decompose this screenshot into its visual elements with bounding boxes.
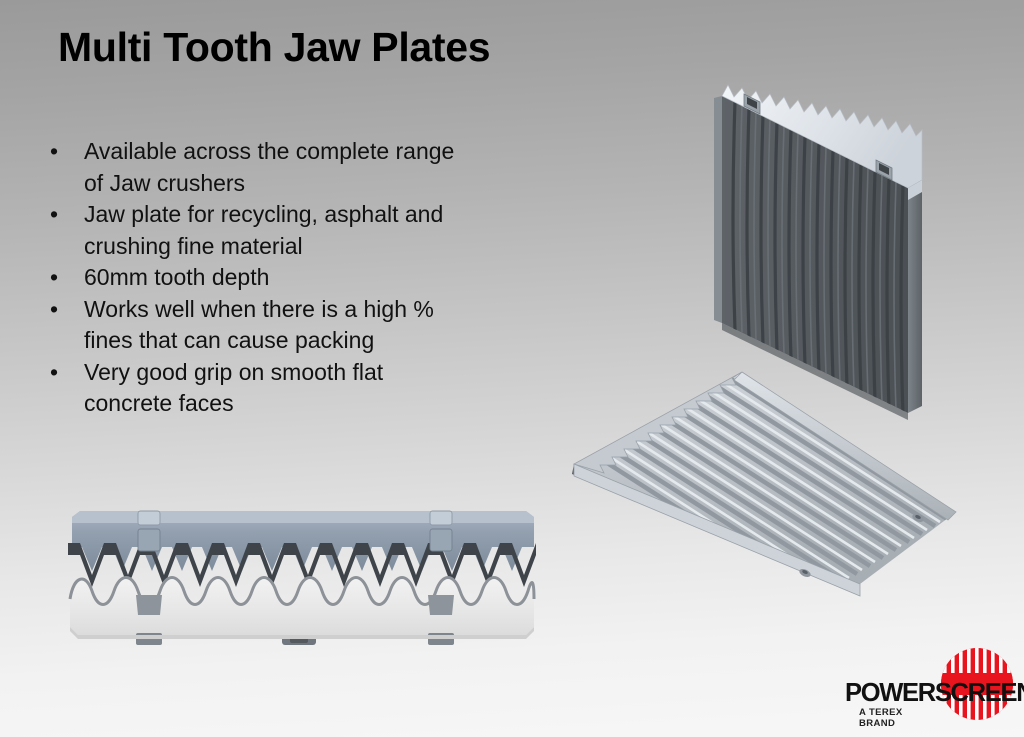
bullet-list: • Available across the complete range of… xyxy=(44,136,544,420)
logo-wordmark-text: POWERSCREEN xyxy=(845,679,1024,707)
list-item-label: Works well when there is a high % fines … xyxy=(84,294,544,357)
bullet-marker-icon: • xyxy=(50,136,58,168)
list-item: • Jaw plate for recycling, asphalt and c… xyxy=(44,199,544,262)
powerscreen-logo: POWERSCREEN® A TEREX BRAND xyxy=(845,645,1020,735)
logo-wordmark: POWERSCREEN® xyxy=(845,679,1024,708)
jaw-plate-3d-light-image xyxy=(560,352,960,602)
bullet-marker-icon: • xyxy=(50,294,58,326)
logo-tagline: A TEREX BRAND xyxy=(859,707,903,729)
list-item: • Very good grip on smooth flat concrete… xyxy=(44,357,544,420)
bullet-marker-icon: • xyxy=(50,357,58,389)
bullet-marker-icon: • xyxy=(50,199,58,231)
slide-canvas: Multi Tooth Jaw Plates • Available acros… xyxy=(0,0,1024,737)
bullet-marker-icon: • xyxy=(50,262,58,294)
list-item: • Works well when there is a high % fine… xyxy=(44,294,544,357)
list-item-label: Available across the complete range of J… xyxy=(84,136,544,199)
list-item: • Available across the complete range of… xyxy=(44,136,544,199)
list-item-label: Very good grip on smooth flat concrete f… xyxy=(84,357,544,420)
page-title: Multi Tooth Jaw Plates xyxy=(58,24,490,71)
list-item: • 60mm tooth depth xyxy=(44,262,544,294)
list-item-label: Jaw plate for recycling, asphalt and cru… xyxy=(84,199,544,262)
jaw-plate-cross-section-image xyxy=(60,503,540,653)
list-item-label: 60mm tooth depth xyxy=(84,262,544,294)
